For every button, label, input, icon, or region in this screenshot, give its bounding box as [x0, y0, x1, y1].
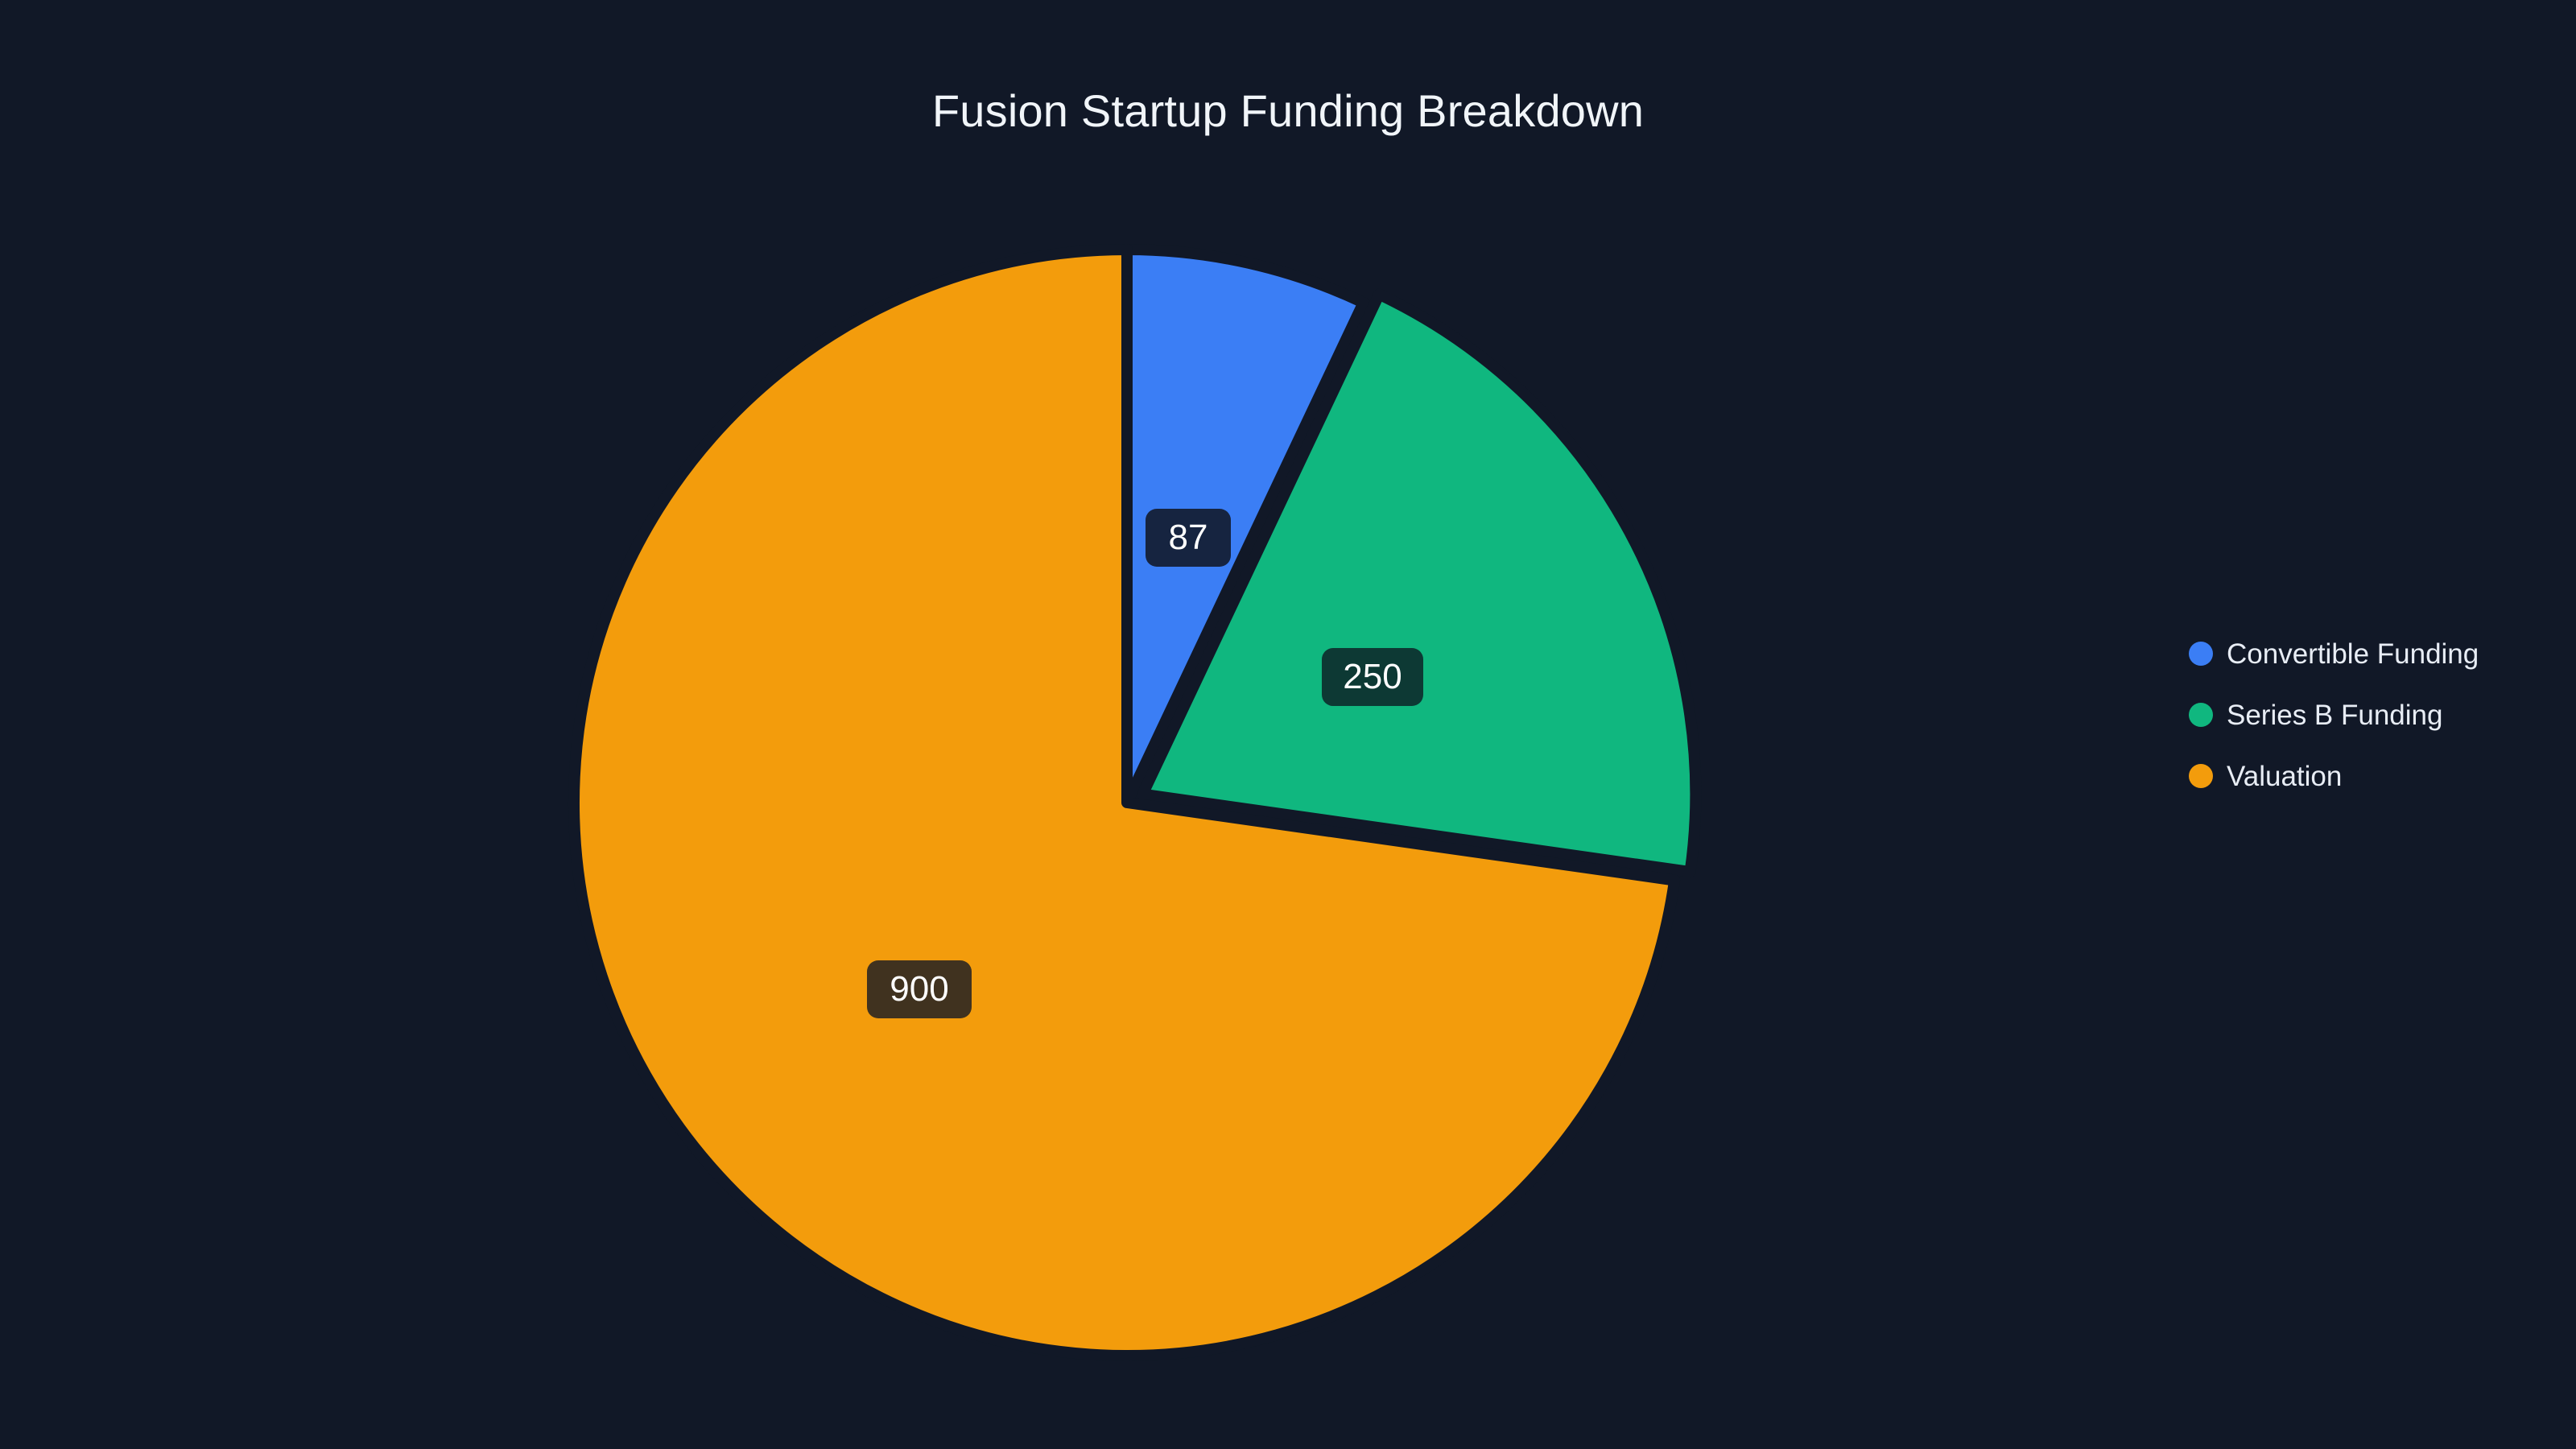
pie-slice-group — [574, 250, 1695, 1356]
legend-item[interactable]: Valuation — [2189, 763, 2479, 789]
legend-item[interactable]: Series B Funding — [2189, 702, 2479, 728]
legend-item-label: Series B Funding — [2227, 701, 2442, 729]
legend-swatch-icon — [2189, 703, 2213, 727]
legend-swatch-icon — [2189, 764, 2213, 788]
legend-item[interactable]: Convertible Funding — [2189, 641, 2479, 667]
chart-canvas: Fusion Startup Funding Breakdown 8725090… — [0, 0, 2576, 1449]
legend-item-label: Valuation — [2227, 762, 2342, 791]
pie-value-label: 87 — [1146, 509, 1231, 567]
legend-item-label: Convertible Funding — [2227, 640, 2479, 668]
pie-value-label: 250 — [1322, 648, 1423, 706]
legend-swatch-icon — [2189, 642, 2213, 666]
pie-value-label: 900 — [867, 960, 972, 1018]
legend[interactable]: Convertible FundingSeries B FundingValua… — [2189, 641, 2479, 789]
